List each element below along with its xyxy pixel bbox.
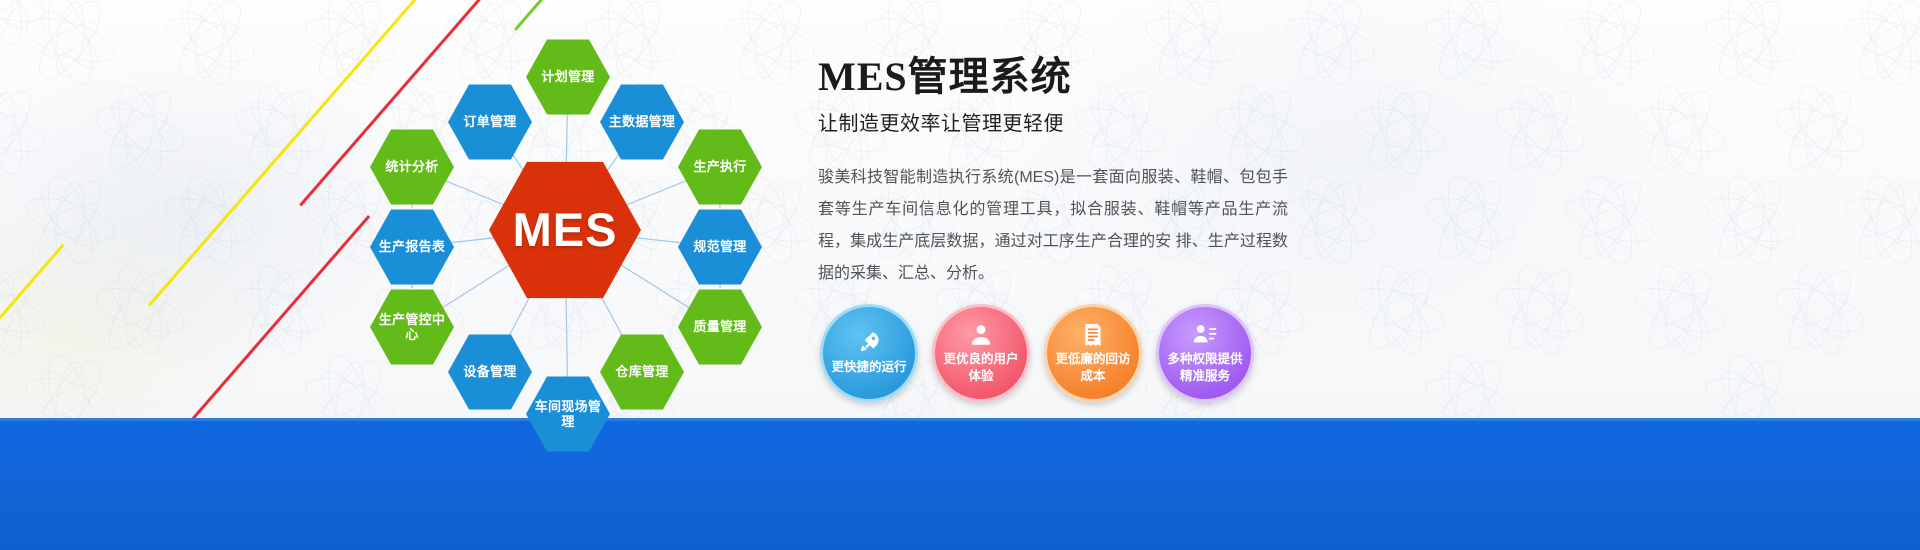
hexagon-diagram: MES 计划管理 订单管理 主数据管理 统计分析 生产执行 生产报告表 规范管理… — [330, 20, 800, 440]
feature-badges: 更快捷的运行 更优良的用户体验 更低廉的回访成本 — [820, 304, 1254, 402]
hex-label: 计划管理 — [537, 69, 598, 84]
hex-label: 统计分析 — [381, 159, 442, 174]
badge-faster-operation[interactable]: 更快捷的运行 — [820, 304, 918, 402]
hex-label: 生产管控中心 — [370, 312, 454, 343]
page-title: MES管理系统 — [818, 55, 1288, 99]
user-icon — [968, 322, 994, 348]
hex-label: 设备管理 — [459, 364, 520, 379]
content-panel: MES管理系统 让制造更效率让管理更轻便 骏美科技智能制造执行系统(MES)是一… — [818, 55, 1288, 290]
badge-precise-service[interactable]: 多种权限提供精准服务 — [1156, 304, 1254, 402]
hex-label: 生产执行 — [689, 159, 750, 174]
hex-label: 车间现场管理 — [526, 399, 610, 430]
rocket-icon — [856, 330, 882, 356]
badge-label: 更优良的用户体验 — [935, 351, 1027, 385]
hex-label: 仓库管理 — [611, 364, 672, 379]
page-subtitle: 让制造更效率让管理更轻便 — [818, 107, 1288, 136]
badge-lower-cost[interactable]: 更低廉的回访成本 — [1044, 304, 1142, 402]
badge-better-experience[interactable]: 更优良的用户体验 — [932, 304, 1030, 402]
hex-label: 订单管理 — [459, 114, 520, 129]
hex-label: 生产报告表 — [375, 239, 450, 254]
badge-label: 更快捷的运行 — [825, 359, 912, 376]
hex-label: 质量管理 — [689, 319, 750, 334]
hex-label: 规范管理 — [689, 239, 750, 254]
mes-banner: MES 计划管理 订单管理 主数据管理 统计分析 生产执行 生产报告表 规范管理… — [0, 0, 1920, 550]
people-icon — [1192, 322, 1218, 348]
badge-label: 多种权限提供精准服务 — [1159, 351, 1251, 385]
hex-label: 主数据管理 — [605, 114, 680, 129]
blue-band — [0, 418, 1920, 550]
page-description: 骏美科技智能制造执行系统(MES)是一套面向服装、鞋帽、包包手套等生产车间信息化… — [818, 162, 1288, 290]
invoice-icon — [1080, 322, 1106, 348]
hex-center-label: MES — [509, 202, 622, 257]
badge-label: 更低廉的回访成本 — [1047, 351, 1139, 385]
